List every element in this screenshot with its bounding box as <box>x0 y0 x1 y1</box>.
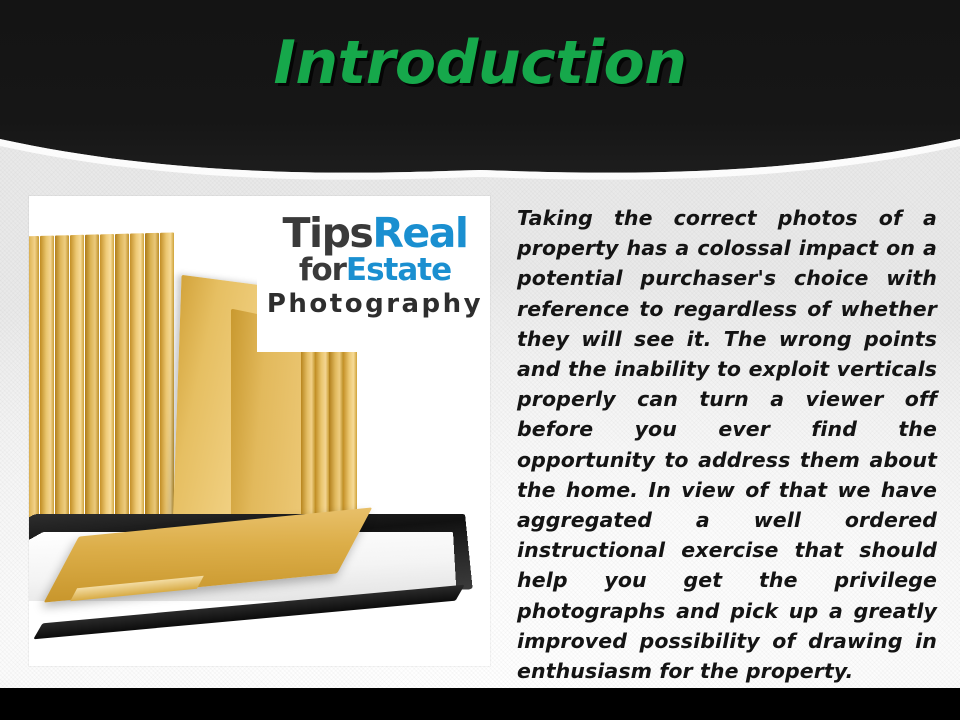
bottom-letterbox-bar <box>0 688 960 720</box>
logo-real-text: Real <box>372 209 467 257</box>
slide-body-paragraph: Taking the correct photos of a property … <box>517 203 937 686</box>
logo-estate-text: Estate <box>346 252 451 288</box>
logo-line-one: TipsReal <box>257 210 490 256</box>
logo-tips-text: Tips <box>283 209 373 257</box>
presentation-slide: Introduction TipsReal fo <box>0 0 960 720</box>
logo-line-two: forEstate <box>257 253 490 287</box>
brand-logo: TipsReal forEstate Photography <box>257 204 490 352</box>
slide-image: TipsReal forEstate Photography <box>29 196 490 666</box>
logo-for-text: for <box>299 252 346 288</box>
slide-title: Introduction <box>0 28 960 98</box>
logo-photography-text: Photography <box>257 289 490 319</box>
